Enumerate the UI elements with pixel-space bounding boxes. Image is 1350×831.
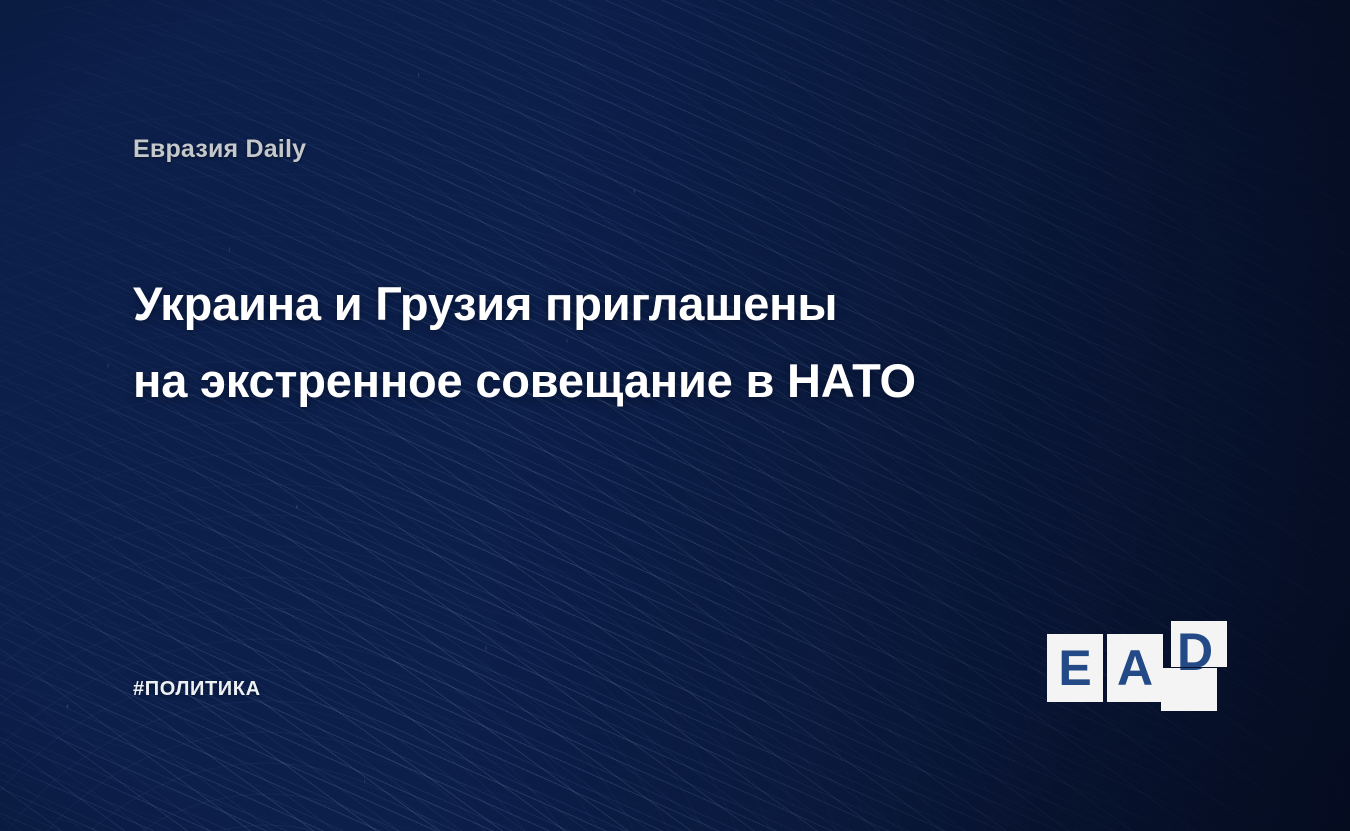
card-content: Евразия Daily Украина и Грузия приглашен…	[0, 0, 1350, 831]
headline-line-2: на экстренное совещание в НАТО	[133, 342, 1083, 419]
ead-logo[interactable]: E A D D	[1047, 621, 1223, 711]
logo-tile-d-top: D	[1171, 621, 1227, 667]
logo-letter-a: A	[1117, 643, 1153, 693]
logo-tile-e: E	[1047, 634, 1103, 702]
category-tag-politics[interactable]: #ПОЛИТИКА	[133, 678, 261, 701]
logo-letter-d-top: D	[1177, 626, 1213, 667]
logo-tile-a: A	[1107, 634, 1163, 702]
logo-tile-d-bottom: D	[1161, 668, 1217, 711]
logo-letter-e: E	[1058, 643, 1091, 693]
logo-letter-d-bottom: D	[1177, 668, 1213, 678]
brand-title: Евразия Daily	[133, 135, 306, 164]
headline-line-1: Украина и Грузия приглашены	[133, 265, 1083, 342]
page-title: Украина и Грузия приглашены на экстренно…	[133, 265, 1083, 419]
news-card: Евразия Daily Украина и Грузия приглашен…	[0, 0, 1350, 831]
